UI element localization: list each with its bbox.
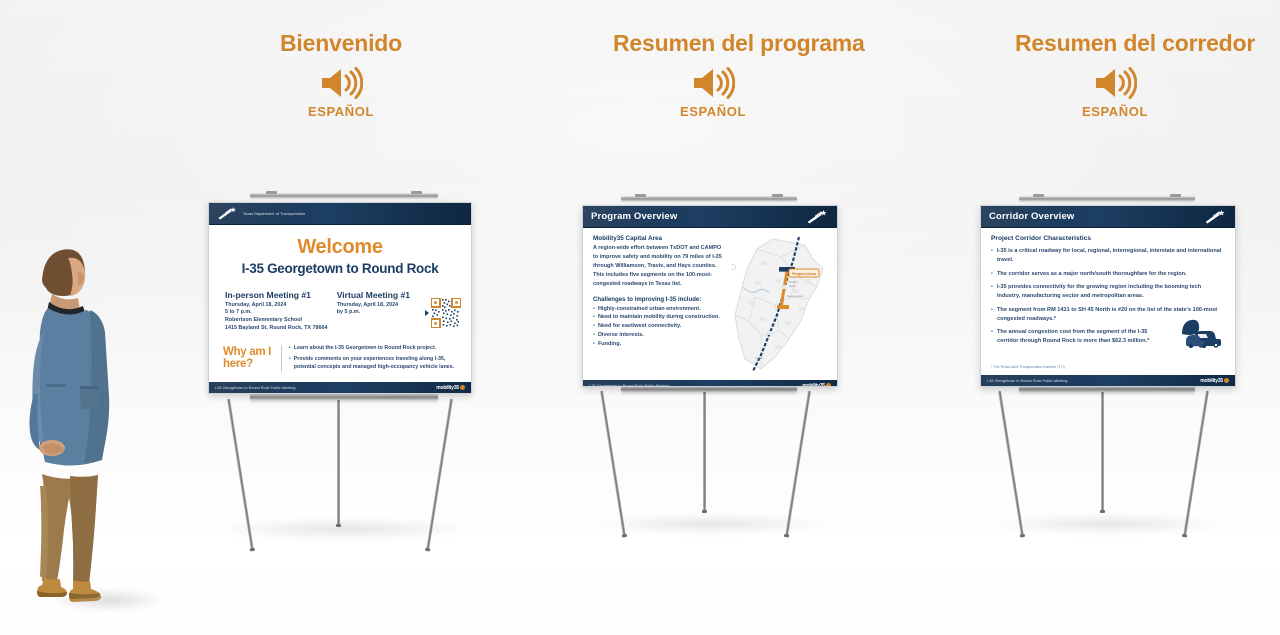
easel-top-rail [1019,196,1195,201]
txdot-logo-icon [806,210,830,224]
virtual-heading: Virtual Meeting #1 [337,290,417,300]
list-item: •Funding. [593,340,725,349]
why-bullet-list: •Learn about the I-35 Georgetown to Roun… [281,345,461,372]
section-heading: Project Corridor Characteristics [991,235,1225,242]
easel-leg-left [600,391,626,536]
easel-top-rail [250,193,438,198]
mobility35-dot-icon [1224,378,1229,383]
svg-text:Rock: Rock [789,284,796,288]
board-body: Mobility35 Capital Area A region-wide ef… [583,228,837,380]
list-item: ▪I-35 is a critical roadway for local, r… [991,247,1225,265]
bullet-icon: • [593,322,595,331]
txdot-logo-icon [217,207,239,220]
mobility35-dot-icon [460,385,465,390]
traffic-congestion-icon [1180,314,1224,353]
program-text-column: Mobility35 Capital Area A region-wide ef… [593,235,725,380]
agency-name: Texas Department of Transportation [243,212,305,216]
section-body: A region-wide effort between TxDOT and C… [593,244,725,289]
board-header: Corridor Overview [981,206,1235,228]
list-item: ▪The corridor serves as a major north/so… [991,270,1225,279]
board-header: Texas Department of Transportation [209,203,471,225]
virtual-time: by 5 p.m. [337,309,417,317]
spanish-title: Resumen del corredor [1015,30,1215,57]
poster-board-welcome[interactable]: Texas Department of Transportation Welco… [208,202,472,394]
poster-subtitle: I-35 Georgetown to Round Rock [219,261,461,276]
mobility35-logo: mobility35 [802,383,831,388]
board-footer: I-35 Georgetown to Round Rock Public Mee… [981,375,1235,386]
list-item: •Highly-constrained urban environment. [593,305,725,314]
bullet-icon: • [593,305,595,314]
bullet-icon: ▪ [991,306,993,324]
footer-text: I-35 Georgetown to Round Rock Public Mee… [215,386,296,390]
in-person-meeting-block: In-person Meeting #1 Thursday, April 18,… [225,290,329,333]
footnote: * The Texas A&M Transportation Institute… [991,365,1065,369]
poster-title: Welcome [219,237,461,258]
speaker-icon[interactable] [319,66,363,100]
spanish-title: Resumen del programa [613,30,813,57]
meetings-row: In-person Meeting #1 Thursday, April 18,… [219,290,461,333]
spanish-audio-program[interactable]: Resumen del programa ESPAÑOL [613,30,813,119]
easel-leg-center [337,399,340,525]
speaker-icon[interactable] [691,66,735,100]
easel-leg-right [1183,391,1209,536]
spanish-audio-welcome[interactable]: Bienvenido ESPAÑOL [241,30,441,119]
easel-welcome: Texas Department of Transportation Welco… [200,193,490,543]
challenges-heading: Challenges to improving I-35 include: [593,296,725,303]
board-header: Program Overview [583,206,837,228]
easel-leg-right [785,391,811,536]
why-heading: Why am I here? [223,346,275,370]
bullet-icon: • [289,356,291,372]
easel-tray [250,393,438,400]
board-header-title: Program Overview [591,211,677,222]
why-section: Why am I here? •Learn about the I-35 Geo… [219,345,461,372]
easel-leg-center [1101,391,1104,511]
footer-text: I-35 Georgetown to Round Rock Public Mee… [987,379,1068,383]
list-item: •Need for east/west connectivity. [593,322,725,331]
board-footer: I-35 Georgetown to Round Rock Public Mee… [209,382,471,393]
mobility35-logo: mobility35 [1200,378,1229,384]
spanish-audio-corridor[interactable]: Resumen del corredor ESPAÑOL [1015,30,1215,119]
bullet-icon: • [289,345,291,353]
person-shadow [48,588,168,612]
list-item: ▪The annual congestion cost from the seg… [991,328,1151,346]
svg-text:Austin: Austin [755,356,764,360]
list-item: ▪I-35 provides connectivity for the grow… [991,283,1225,301]
in-person-heading: In-person Meeting #1 [225,290,329,300]
svg-text:Georgetown: Georgetown [787,294,804,298]
qr-code-icon[interactable] [431,298,461,328]
list-item: •Need to maintain mobility during constr… [593,313,725,322]
spanish-language-label: ESPAÑOL [1015,104,1215,119]
txdot-logo-icon [1204,210,1228,224]
easel-program-overview: Program Overview Mobility35 Capital Area… [575,196,845,541]
virtual-meeting-block: Virtual Meeting #1 Thursday, April 18, 2… [337,290,417,333]
qr-arrow-icon [425,310,429,316]
easel-corridor-overview: Corridor Overview Project Corridor Chara… [973,196,1243,541]
qr-code-group[interactable] [425,294,461,333]
mobility35-logo: mobility35 [436,385,465,391]
bullet-icon: ▪ [991,270,993,279]
spanish-language-label: ESPAÑOL [613,104,813,119]
map-project-area-label: Project Area [792,271,816,276]
easel-leg-center [703,391,706,511]
board-header-title: Corridor Overview [989,211,1074,222]
list-item: •Learn about the I-35 Georgetown to Roun… [289,345,461,353]
in-person-time: 5 to 7 p.m. [225,309,329,317]
visitor-avatar [8,236,126,626]
poster-board-program-overview[interactable]: Program Overview Mobility35 Capital Area… [582,205,838,387]
easel-top-rail [621,196,797,201]
bullet-icon: • [593,331,595,340]
footer-text: I-35 Georgetown to Round Rock Public Mee… [589,384,670,388]
bullet-icon: ▪ [991,247,993,265]
easel-leg-left [998,391,1024,536]
mobility35-dot-icon [826,383,831,387]
spanish-language-label: ESPAÑOL [241,104,441,119]
bullet-icon: • [593,340,595,349]
board-body: Welcome I-35 Georgetown to Round Rock In… [209,225,471,382]
in-person-venue: Robertson Elementary School [225,317,329,325]
in-person-address: 1415 Bayland St, Round Rock, TX 78664 [225,325,329,333]
list-item: •Provide comments on your experiences tr… [289,356,461,372]
bullet-icon: ▪ [991,328,993,346]
list-item: •Diverse interests. [593,331,725,340]
board-footer: I-35 Georgetown to Round Rock Public Mee… [583,380,837,387]
bullet-icon: • [593,313,595,322]
speaker-icon[interactable] [1093,66,1137,100]
poster-board-corridor-overview[interactable]: Corridor Overview Project Corridor Chara… [980,205,1236,387]
in-person-date: Thursday, April 18, 2024 [225,302,329,310]
spanish-title: Bienvenido [241,30,441,57]
bullet-icon: ▪ [991,283,993,301]
board-body: Project Corridor Characteristics ▪I-35 i… [981,228,1235,375]
capital-area-map: Project Area RoundRock Georgetown [731,235,827,380]
virtual-date: Thursday, April 18, 2024 [337,302,417,310]
section-heading: Mobility35 Capital Area [593,235,725,242]
